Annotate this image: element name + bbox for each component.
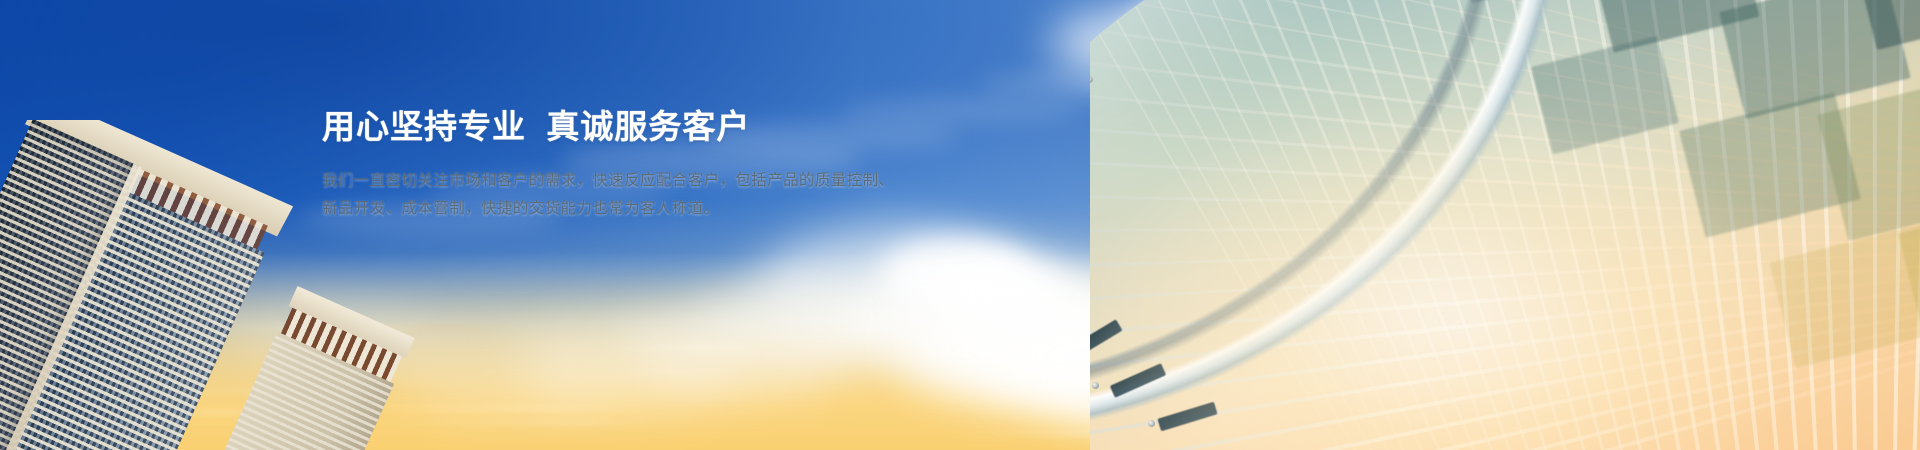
horizon-streak [363,420,875,425]
banner-subtitle: 我们一直密切关注市场和客户的需求，快速反应配合客户，包括产品的质量控制、 新品开… [322,167,1082,223]
subtitle-line-1: 我们一直密切关注市场和客户的需求，快速反应配合客户，包括产品的质量控制、 [322,167,1082,195]
glass-sun-glow [1100,110,1800,450]
right-glass-tower [1090,0,1920,450]
cloud-puff [940,262,1070,322]
glass-rim-bolt [1092,382,1099,389]
banner-copy: 用心坚持专业 真诚服务客户 我们一直密切关注市场和客户的需求，快速反应配合客户，… [322,106,1082,223]
hero-banner: 用心坚持专业 真诚服务客户 我们一直密切关注市场和客户的需求，快速反应配合客户，… [0,0,1920,450]
banner-headline: 用心坚持专业 真诚服务客户 [322,106,1082,147]
subtitle-line-2: 新品开发、成本管制，快捷的交货能力也常为客人称道。 [322,195,1082,223]
